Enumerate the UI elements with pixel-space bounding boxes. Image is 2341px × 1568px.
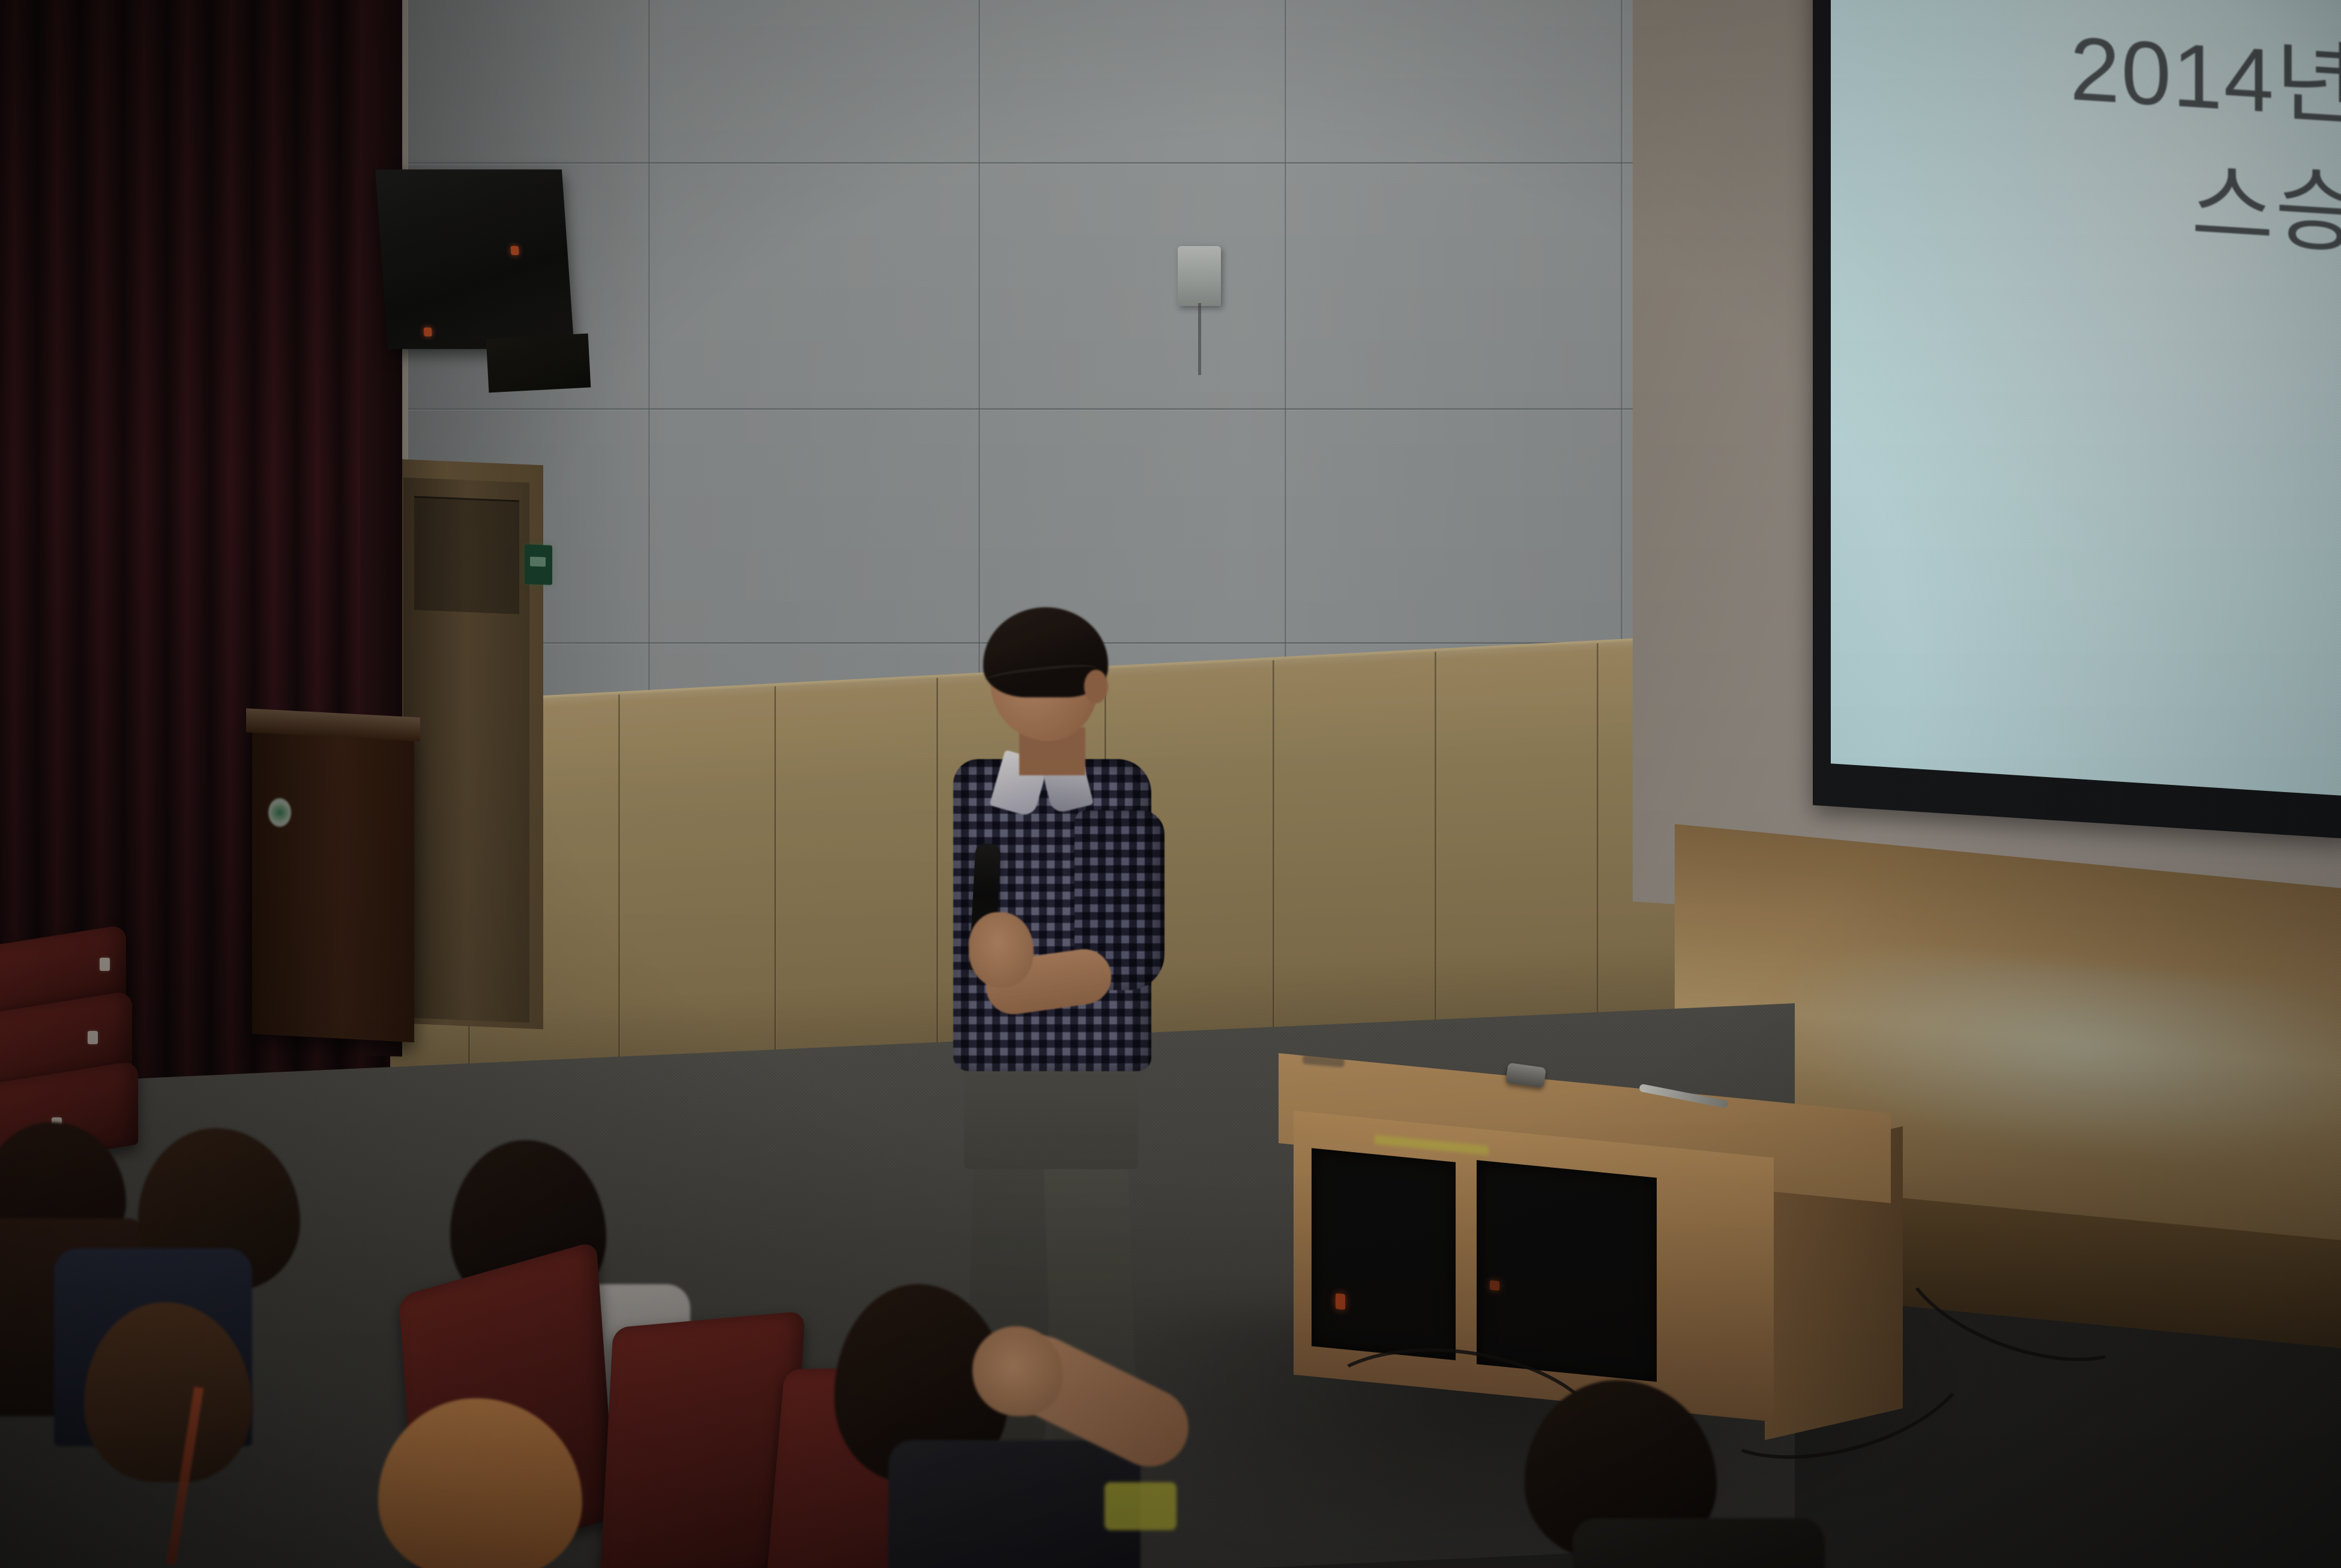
presenter-hand [969, 912, 1034, 988]
audience-body [1573, 1518, 1825, 1568]
audience-shirt-detail [1104, 1482, 1177, 1530]
podium-emblem-icon [268, 798, 291, 827]
auditorium-photo: 2014년 스승 [0, 0, 2341, 1568]
wall-speaker-icon [375, 169, 574, 349]
wall-speaker-mount [486, 334, 591, 393]
slide-line-2: 스승 [2070, 132, 2341, 278]
av-cabinet-door-left[interactable] [1312, 1148, 1456, 1360]
projection-screen: 2014년 스승 [1831, 0, 2341, 797]
podium [252, 722, 414, 1042]
wall-sensor-icon [1178, 246, 1221, 306]
exit-sign-icon [525, 544, 552, 585]
audience-hand [972, 1326, 1062, 1416]
audience-body [888, 1440, 1140, 1568]
av-cabinet-door-right[interactable] [1477, 1160, 1657, 1381]
slide-text: 2014년 스승 [2070, 4, 2341, 278]
slide-line-1: 2014년 [2070, 4, 2341, 150]
door-upper-panel [414, 496, 519, 614]
wall-sensor-cord [1198, 303, 1201, 375]
